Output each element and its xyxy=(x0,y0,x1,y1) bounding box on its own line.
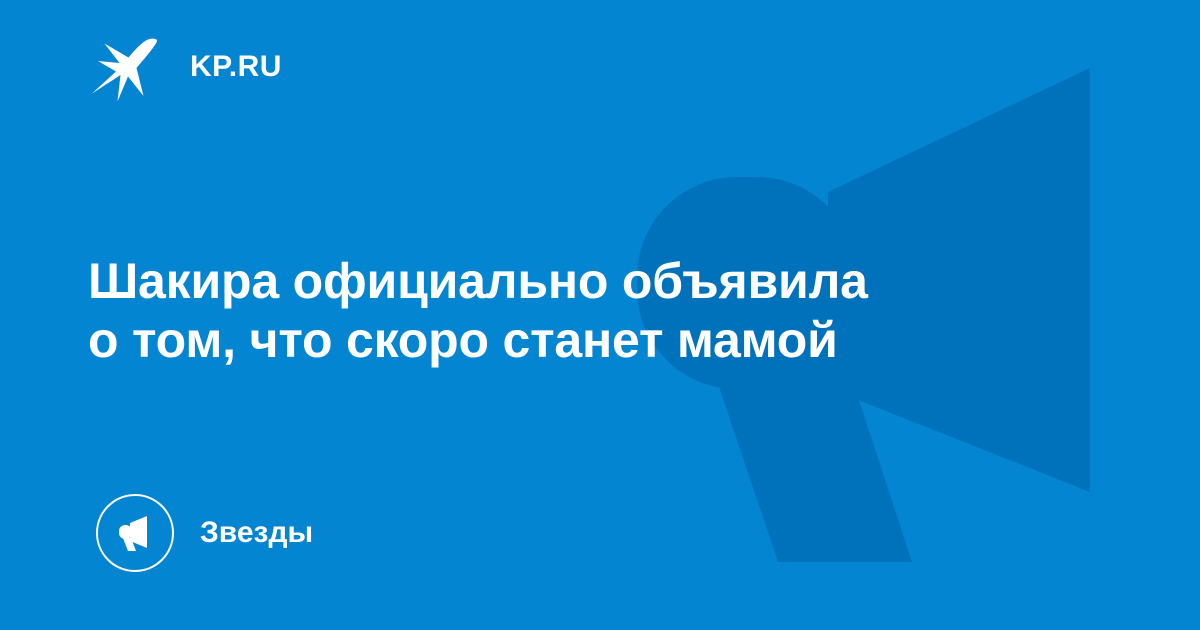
swallow-bird-icon xyxy=(90,31,168,103)
headline: Шакира официально объявила о том, что ск… xyxy=(88,252,1048,370)
rubric-badge[interactable] xyxy=(96,494,174,572)
rubric[interactable]: Звезды xyxy=(96,494,313,572)
brand-logo[interactable]: KP.RU xyxy=(90,32,282,102)
headline-line-2: о том, что скоро станет мамой xyxy=(88,311,1048,370)
headline-line-1: Шакира официально объявила xyxy=(88,252,1048,311)
rubric-label: Звезды xyxy=(200,518,313,548)
brand-wordmark: KP.RU xyxy=(190,52,282,82)
megaphone-icon xyxy=(113,511,157,555)
share-card: KP.RU Шакира официально объявила о том, … xyxy=(0,0,1200,630)
